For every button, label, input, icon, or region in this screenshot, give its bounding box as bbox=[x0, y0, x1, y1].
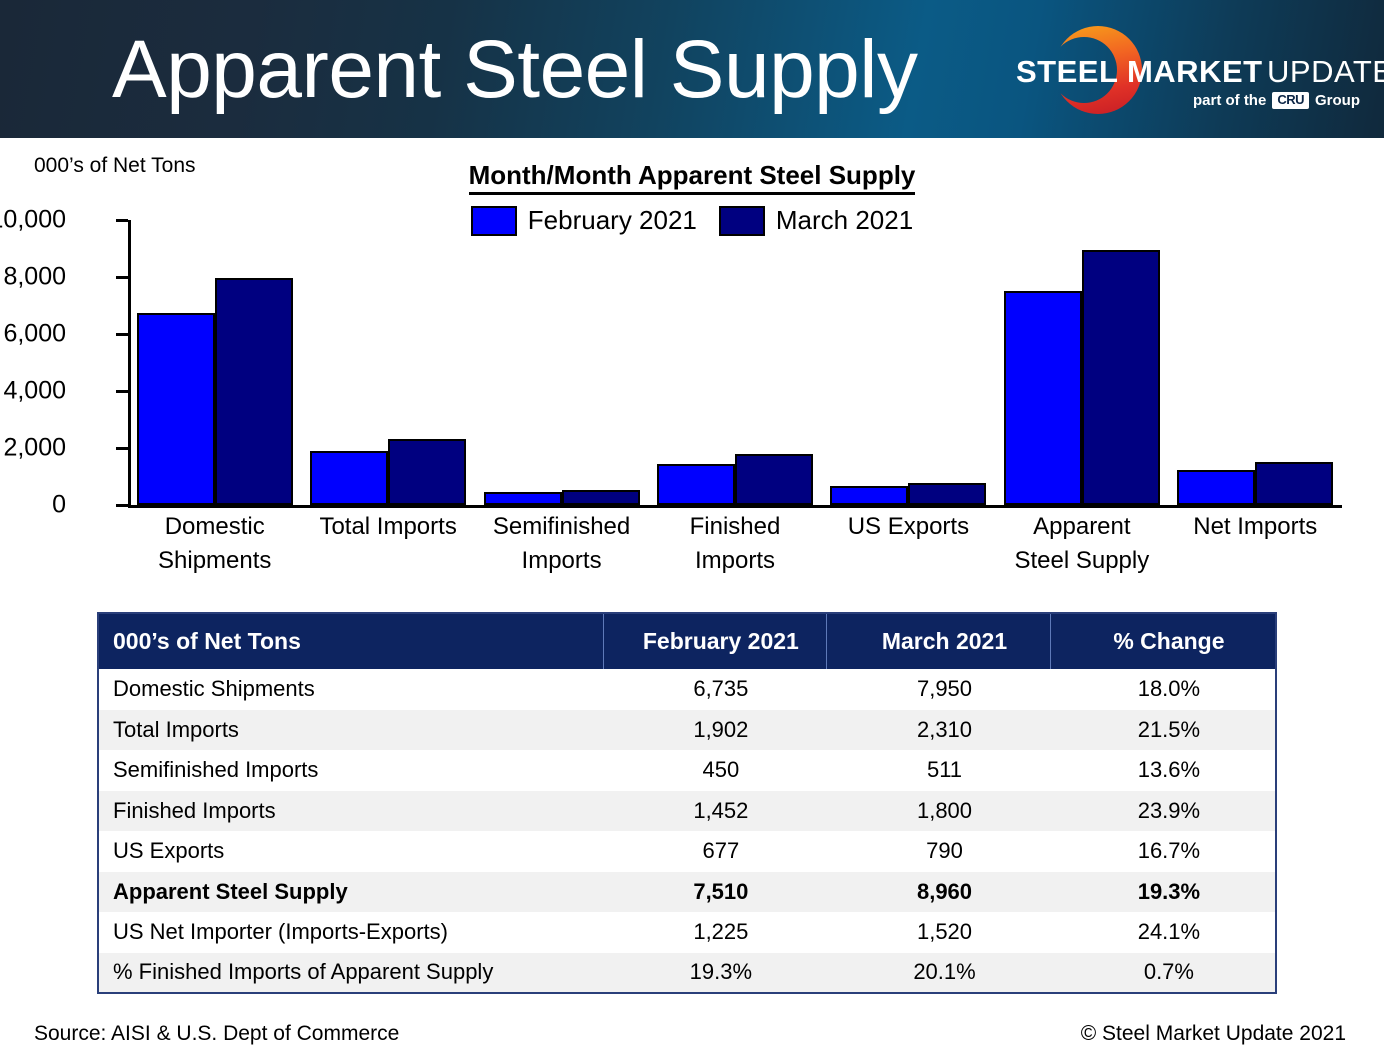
y-axis-tick bbox=[116, 219, 128, 222]
x-axis-label-line: Imports bbox=[648, 544, 821, 578]
y-axis-tick bbox=[116, 390, 128, 393]
x-axis-label-line: Finished bbox=[648, 510, 821, 544]
chart-bars-layer bbox=[128, 220, 1342, 505]
chart-bar bbox=[735, 454, 813, 505]
row-label: Finished Imports bbox=[98, 791, 603, 832]
x-axis-line bbox=[128, 505, 1342, 508]
table-row: Apparent Steel Supply7,5108,96019.3% bbox=[98, 872, 1276, 913]
y-axis-tick-label: 4,000 bbox=[3, 377, 66, 406]
row-change: 19.3% bbox=[1050, 872, 1276, 913]
table-header-cell-label: 000’s of Net Tons bbox=[98, 613, 603, 669]
x-axis-label-line: Domestic bbox=[128, 510, 301, 544]
chart-title: Month/Month Apparent Steel Supply bbox=[0, 160, 1384, 191]
table-row: Finished Imports1,4521,80023.9% bbox=[98, 791, 1276, 832]
header-banner: Apparent Steel Supply STEEL MARKET bbox=[0, 0, 1384, 138]
table-header: 000’s of Net Tons February 2021 March 20… bbox=[98, 613, 1276, 669]
row-february: 7,510 bbox=[603, 872, 827, 913]
row-label: US Net Importer (Imports-Exports) bbox=[98, 912, 603, 953]
x-axis-label: US Exports bbox=[822, 510, 995, 544]
table-row: Total Imports1,9022,31021.5% bbox=[98, 710, 1276, 751]
chart-bar bbox=[908, 483, 986, 506]
cru-badge: CRU bbox=[1272, 92, 1309, 109]
chart-bar bbox=[562, 490, 640, 505]
row-label: US Exports bbox=[98, 831, 603, 872]
row-march: 2,310 bbox=[827, 710, 1051, 751]
row-march: 7,950 bbox=[827, 669, 1051, 710]
page-title: Apparent Steel Supply bbox=[112, 22, 918, 118]
table-header-row: 000’s of Net Tons February 2021 March 20… bbox=[98, 613, 1276, 669]
x-axis-label-line: Net Imports bbox=[1169, 510, 1342, 544]
row-march: 8,960 bbox=[827, 872, 1051, 913]
row-march: 1,800 bbox=[827, 791, 1051, 832]
chart-bar bbox=[1177, 470, 1255, 505]
row-march: 511 bbox=[827, 750, 1051, 791]
table-row: % Finished Imports of Apparent Supply19.… bbox=[98, 953, 1276, 994]
x-axis-label-line: Steel Supply bbox=[995, 544, 1168, 578]
chart-bar bbox=[1004, 291, 1082, 505]
chart-x-axis-labels: DomesticShipmentsTotal ImportsSemifinish… bbox=[128, 510, 1342, 596]
logo-brand-primary: STEEL MARKET bbox=[1016, 54, 1263, 89]
y-axis-tick bbox=[116, 447, 128, 450]
row-label: % Finished Imports of Apparent Supply bbox=[98, 953, 603, 994]
table-body: Domestic Shipments6,7357,95018.0%Total I… bbox=[98, 669, 1276, 993]
x-axis-label-line: Semifinished bbox=[475, 510, 648, 544]
row-march: 1,520 bbox=[827, 912, 1051, 953]
row-change: 23.9% bbox=[1050, 791, 1276, 832]
x-axis-label: FinishedImports bbox=[648, 510, 821, 578]
chart-bar bbox=[1255, 462, 1333, 505]
row-label: Apparent Steel Supply bbox=[98, 872, 603, 913]
row-change: 13.6% bbox=[1050, 750, 1276, 791]
row-label: Semifinished Imports bbox=[98, 750, 603, 791]
y-axis-tick-label: 2,000 bbox=[3, 434, 66, 463]
row-february: 1,452 bbox=[603, 791, 827, 832]
row-february: 6,735 bbox=[603, 669, 827, 710]
x-axis-label-line: Imports bbox=[475, 544, 648, 578]
footer-source: Source: AISI & U.S. Dept of Commerce bbox=[34, 1022, 399, 1046]
y-axis-tick bbox=[116, 504, 128, 507]
row-february: 19.3% bbox=[603, 953, 827, 994]
y-axis-tick-label: 0 bbox=[52, 491, 66, 520]
row-change: 16.7% bbox=[1050, 831, 1276, 872]
table-row: US Net Importer (Imports-Exports)1,2251,… bbox=[98, 912, 1276, 953]
x-axis-label: Total Imports bbox=[301, 510, 474, 544]
x-axis-label: DomesticShipments bbox=[128, 510, 301, 578]
x-axis-label: Net Imports bbox=[1169, 510, 1342, 544]
table-header-cell-change: % Change bbox=[1050, 613, 1276, 669]
logo-brand-secondary: UPDATE bbox=[1267, 54, 1384, 89]
row-february: 677 bbox=[603, 831, 827, 872]
chart-plot-area: 02,0004,0006,0008,00010,000 bbox=[128, 220, 1342, 505]
chart-bar bbox=[657, 464, 735, 505]
row-change: 0.7% bbox=[1050, 953, 1276, 994]
chart-bar bbox=[1082, 250, 1160, 505]
table-header-cell-february: February 2021 bbox=[603, 613, 827, 669]
logo-wordmark: STEEL MARKET UPDATE bbox=[1016, 54, 1362, 90]
chart-bar bbox=[215, 278, 293, 505]
logo-tagline: part of the CRU Group bbox=[1193, 92, 1360, 109]
table-row: Semifinished Imports45051113.6% bbox=[98, 750, 1276, 791]
table-row: Domestic Shipments6,7357,95018.0% bbox=[98, 669, 1276, 710]
chart-bar bbox=[310, 451, 388, 505]
logo-tagline-suffix: Group bbox=[1315, 92, 1360, 109]
logo-tagline-prefix: part of the bbox=[1193, 92, 1266, 109]
table-row: US Exports67779016.7% bbox=[98, 831, 1276, 872]
row-label: Domestic Shipments bbox=[98, 669, 603, 710]
x-axis-label-line: US Exports bbox=[822, 510, 995, 544]
y-axis-tick bbox=[116, 333, 128, 336]
chart-bar bbox=[484, 492, 562, 505]
footer-copyright: © Steel Market Update 2021 bbox=[1081, 1022, 1346, 1046]
chart-title-text: Month/Month Apparent Steel Supply bbox=[469, 160, 916, 195]
chart-bar bbox=[830, 486, 908, 505]
y-axis-tick-label: 8,000 bbox=[3, 263, 66, 292]
y-axis-tick-label: 10,000 bbox=[0, 206, 66, 235]
row-label: Total Imports bbox=[98, 710, 603, 751]
steel-market-update-logo: STEEL MARKET UPDATE part of the CRU Grou… bbox=[992, 18, 1362, 122]
y-axis-tick-label: 6,000 bbox=[3, 320, 66, 349]
x-axis-label-line: Total Imports bbox=[301, 510, 474, 544]
row-february: 1,225 bbox=[603, 912, 827, 953]
x-axis-label-line: Apparent bbox=[995, 510, 1168, 544]
row-march: 790 bbox=[827, 831, 1051, 872]
row-february: 1,902 bbox=[603, 710, 827, 751]
chart-section: 000’s of Net Tons Month/Month Apparent S… bbox=[0, 138, 1384, 600]
row-february: 450 bbox=[603, 750, 827, 791]
chart-bar bbox=[137, 313, 215, 505]
x-axis-label: ApparentSteel Supply bbox=[995, 510, 1168, 578]
row-change: 24.1% bbox=[1050, 912, 1276, 953]
apparent-steel-supply-table: 000’s of Net Tons February 2021 March 20… bbox=[97, 612, 1277, 994]
table-header-cell-march: March 2021 bbox=[827, 613, 1051, 669]
y-axis-tick bbox=[116, 276, 128, 279]
row-march: 20.1% bbox=[827, 953, 1051, 994]
x-axis-label-line: Shipments bbox=[128, 544, 301, 578]
row-change: 21.5% bbox=[1050, 710, 1276, 751]
x-axis-label: SemifinishedImports bbox=[475, 510, 648, 578]
chart-bar bbox=[388, 439, 466, 505]
row-change: 18.0% bbox=[1050, 669, 1276, 710]
